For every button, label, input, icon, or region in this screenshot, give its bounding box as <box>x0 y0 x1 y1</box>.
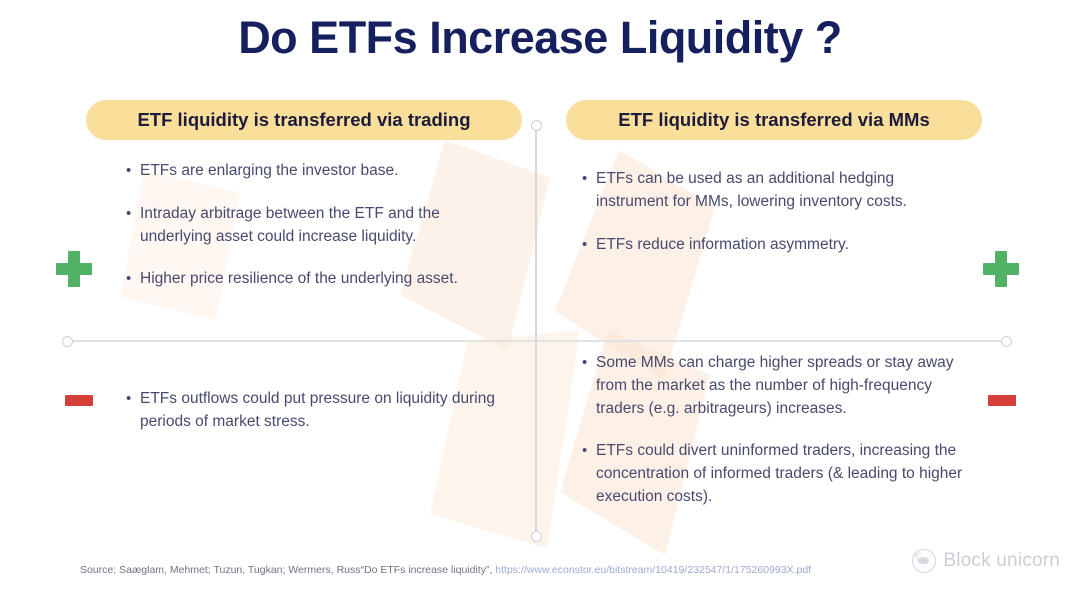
bullet-point-icon: • <box>126 203 140 225</box>
axis-endpoint-left-icon <box>62 336 73 347</box>
background-polygon-c <box>430 330 580 560</box>
right-negative-bullet-list: • Some MMs can charge higher spreads or … <box>582 352 974 509</box>
background-decoration <box>0 0 1080 599</box>
list-item: • ETFs could divert uninformed traders, … <box>582 440 974 508</box>
left-column-header: ETF liquidity is transferred via trading <box>86 100 522 140</box>
watermark: Block unicorn <box>912 549 1060 573</box>
list-item-text: Higher price resilience of the underlyin… <box>140 268 514 291</box>
list-item-text: ETFs can be used as an additional hedgin… <box>596 168 960 214</box>
bullet-point-icon: • <box>582 440 596 462</box>
list-item: • Some MMs can charge higher spreads or … <box>582 352 974 420</box>
list-item: • ETFs are enlarging the investor base. <box>126 160 514 183</box>
axis-endpoint-top-icon <box>531 120 542 131</box>
list-item-text: ETFs outflows could put pressure on liqu… <box>140 388 514 434</box>
list-item: • Intraday arbitrage between the ETF and… <box>126 203 514 249</box>
source-citation: Source: Saæglam, Mehmet; Tuzun, Tugkan; … <box>80 564 811 576</box>
minus-icon-right <box>988 395 1016 406</box>
right-column-header: ETF liquidity is transferred via MMs <box>566 100 982 140</box>
bullet-point-icon: • <box>126 388 140 410</box>
list-item: • Higher price resilience of the underly… <box>126 268 514 291</box>
list-item-text: ETFs reduce information asymmetry. <box>596 234 960 257</box>
list-item-text: Some MMs can charge higher spreads or st… <box>596 352 974 420</box>
page-title: Do ETFs Increase Liquidity ? <box>0 12 1080 64</box>
axis-endpoint-bottom-icon <box>531 531 542 542</box>
list-item-text: ETFs are enlarging the investor base. <box>140 160 514 183</box>
left-positive-bullet-list: • ETFs are enlarging the investor base. … <box>126 160 514 291</box>
bullet-point-icon: • <box>126 160 140 182</box>
minus-icon-left <box>65 395 93 406</box>
list-item-text: ETFs could divert uninformed traders, in… <box>596 440 974 508</box>
unicorn-chat-bubble-icon <box>912 549 936 573</box>
list-item: • ETFs reduce information asymmetry. <box>582 234 960 257</box>
source-citation-link[interactable]: https://www.econstor.eu/bitstream/10419/… <box>495 564 811 576</box>
bullet-point-icon: • <box>582 168 596 190</box>
horizontal-divider-line <box>66 340 1006 342</box>
list-item: • ETFs can be used as an additional hedg… <box>582 168 960 214</box>
axis-endpoint-right-icon <box>1001 336 1012 347</box>
bullet-point-icon: • <box>126 268 140 290</box>
plus-icon-right <box>983 251 1019 287</box>
source-citation-text: Source: Saæglam, Mehmet; Tuzun, Tugkan; … <box>80 564 492 576</box>
vertical-divider-line <box>535 124 537 536</box>
left-negative-bullet-list: • ETFs outflows could put pressure on li… <box>126 388 514 434</box>
list-item-text: Intraday arbitrage between the ETF and t… <box>140 203 514 249</box>
bullet-point-icon: • <box>582 234 596 256</box>
watermark-label: Block unicorn <box>943 550 1060 572</box>
plus-icon-left <box>56 251 92 287</box>
slide-canvas: Do ETFs Increase Liquidity ? ETF liquidi… <box>0 0 1080 599</box>
right-positive-bullet-list: • ETFs can be used as an additional hedg… <box>582 168 960 256</box>
bullet-point-icon: • <box>582 352 596 374</box>
list-item: • ETFs outflows could put pressure on li… <box>126 388 514 434</box>
